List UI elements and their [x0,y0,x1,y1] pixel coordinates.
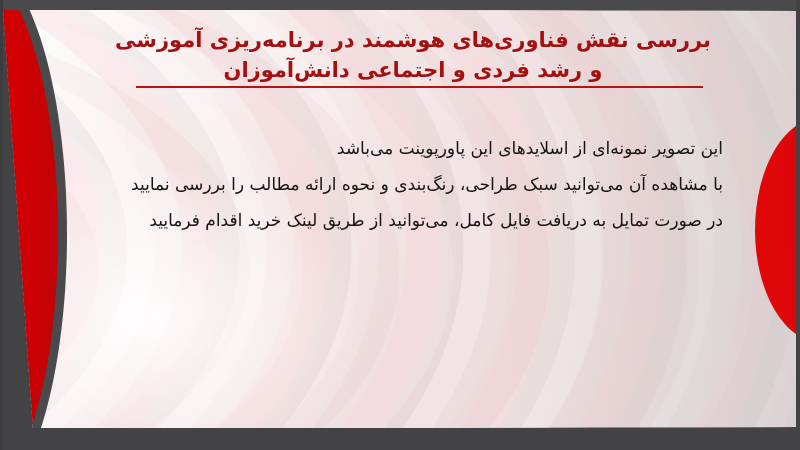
slide-canvas: بررسی نقش فناوری‌های هوشمند در برنامه‌ری… [3,9,797,429]
slide-frame-top [0,0,800,10]
presentation-slide: بررسی نقش فناوری‌های هوشمند در برنامه‌ری… [0,0,800,450]
body-text-line-3: در صورت تمایل به دریافت فایل کامل، می‌تو… [73,203,723,239]
slide-title: بررسی نقش فناوری‌های هوشمند در برنامه‌ری… [63,25,763,85]
body-text-line-2: با مشاهده آن می‌توانید سبک طراحی، رنگ‌بن… [73,167,723,203]
slide-frame-right [796,0,800,450]
slide-frame-bottom [0,428,800,450]
body-text-line-1: این تصویر نمونه‌ای از اسلایدهای این پاور… [73,131,723,167]
slide-frame-left [0,0,3,450]
slide-title-line-2: و رشد فردی و اجتماعی دانش‌آموزان [63,55,763,85]
slide-body-text: این تصویر نمونه‌ای از اسلایدهای این پاور… [73,131,723,239]
title-underline-rule [136,86,703,88]
slide-title-line-1: بررسی نقش فناوری‌های هوشمند در برنامه‌ری… [63,25,763,55]
